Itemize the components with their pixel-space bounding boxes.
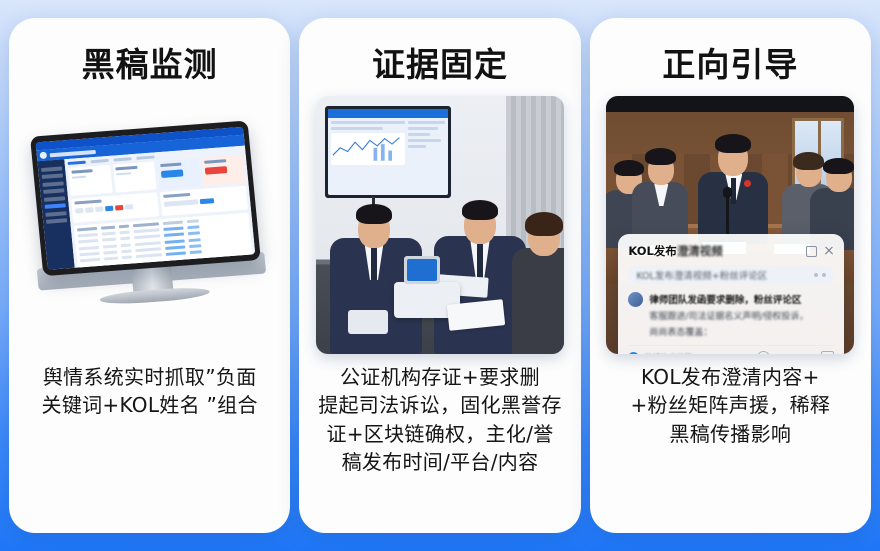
- dashboard-logo-icon: [39, 152, 47, 159]
- dashboard-brand-text: [49, 149, 95, 156]
- dashboard-table: [73, 213, 252, 270]
- wall-display-monitor: [325, 106, 451, 198]
- caption-line: 证+区块链确权，主化/誉: [318, 420, 562, 448]
- card-caption: KOL发布澄清内容+ +粉丝矩阵声援，稀释 黑稿传播影响: [618, 363, 842, 448]
- overlay-header: KOL发布澄清视频: [628, 243, 834, 259]
- sidebar-item: [42, 181, 63, 187]
- caption-line: 黑稿传播影响: [630, 420, 830, 448]
- display-right-col: [408, 121, 445, 165]
- kpi-card: [68, 165, 112, 196]
- kpi-card: [112, 162, 156, 193]
- caption-line: KOL发布澄清内容+: [630, 363, 830, 391]
- filter-panel: [71, 192, 159, 222]
- desktop-monitor-icon: [21, 112, 279, 339]
- card-caption: 舆情系统实时抓取”负面 关键词+KOL姓名 ”组合: [30, 363, 270, 420]
- chip-active: [104, 205, 112, 211]
- caption-line: 舆情系统实时抓取”负面: [42, 363, 258, 391]
- press-conference-image: KOL发布澄清视频 KOL发布澄清视频+粉丝评论区 律师团队发函要求删: [606, 96, 854, 354]
- overlay-title: KOL发布澄清视频: [628, 243, 723, 259]
- device-screen: [404, 256, 440, 284]
- person-left: [632, 148, 688, 238]
- person-right: [512, 212, 564, 354]
- close-icon[interactable]: [824, 246, 834, 256]
- monitor-bezel: [30, 120, 261, 276]
- verified-dot-icon: [628, 352, 639, 354]
- notary-meeting-image: [316, 96, 564, 354]
- secondary-device: [348, 310, 388, 334]
- display-appbar: [328, 109, 448, 118]
- post-line-2: 客服跟进/司法证据名义声明/侵权投诉，: [649, 309, 834, 322]
- display-line-chart: [331, 133, 405, 165]
- caption-line: 提起司法诉讼，固化黑誉存: [318, 391, 562, 419]
- chip-alert: [114, 205, 122, 211]
- cards-stage: 黑稿监测: [0, 0, 880, 551]
- caption-line: 关键词+KOL姓名 ”组合: [42, 391, 258, 419]
- display-left-col: [331, 121, 405, 165]
- caption-line: 公证机构存证+要求删: [318, 363, 562, 391]
- card-title: 证据固定: [372, 48, 508, 81]
- sidebar-item-active: [44, 203, 65, 209]
- monitor-illustration: [9, 89, 290, 361]
- card-title: 正向引导: [662, 48, 798, 81]
- search-button: [199, 198, 213, 204]
- caption-line: 稿发布时间/平台/内容: [318, 448, 562, 476]
- chip: [94, 206, 102, 212]
- kpi-card-alert: [201, 155, 245, 186]
- kpi-card-primary: [157, 158, 201, 189]
- source-label: 微博热点首页: [644, 352, 692, 354]
- search-panel: [160, 186, 248, 216]
- chip: [74, 208, 82, 214]
- social-post-overlay[interactable]: KOL发布澄清视频 KOL发布澄清视频+粉丝评论区 律师团队发函要求删: [618, 234, 844, 354]
- display-screen: [328, 109, 448, 195]
- tab: [113, 157, 131, 161]
- kpi-action-button: [160, 169, 183, 178]
- sidebar-item: [46, 218, 67, 224]
- source-group: 微博热点首页: [628, 352, 706, 354]
- sidebar-item: [43, 188, 64, 194]
- monitor-screen: [35, 127, 255, 270]
- search-query-text: KOL发布澄清视频+粉丝评论区: [636, 268, 767, 282]
- meeting-photo: [299, 89, 580, 361]
- post-line-1: 律师团队发函要求删除，粉丝评论区: [649, 292, 834, 306]
- card-title: 黑稿监测: [82, 48, 218, 81]
- sidebar-item: [45, 211, 66, 217]
- overlay-footer[interactable]: 微博热点首页: [628, 345, 834, 354]
- dashboard-body: [37, 146, 255, 270]
- caption-line: +粉丝矩阵声援，稀释: [630, 391, 830, 419]
- card-zhengxiang-yindao[interactable]: 正向引导: [590, 18, 871, 533]
- sidebar-item: [44, 196, 65, 202]
- post-line-3: 尚尚表态覆盖：: [649, 325, 834, 338]
- kpi-alert-button: [204, 166, 227, 175]
- post-text-block: 律师团队发函要求删除，粉丝评论区 客服跟进/司法证据名义声明/侵权投诉， 尚尚表…: [649, 292, 834, 338]
- tab: [90, 159, 108, 163]
- person-speaker: [698, 134, 768, 234]
- search-field: [163, 199, 197, 207]
- tab: [136, 155, 154, 159]
- filter-chips: [74, 202, 155, 213]
- dashboard-main: [64, 146, 255, 268]
- display-content: [328, 118, 448, 168]
- press-conference-photo: KOL发布澄清视频 KOL发布澄清视频+粉丝评论区 律师团队发函要求删: [590, 89, 871, 361]
- settings-dots-icon[interactable]: [814, 273, 826, 277]
- chart-svg: [331, 133, 405, 163]
- tab-active: [67, 161, 85, 165]
- overlay-search-bar[interactable]: KOL发布澄清视频+粉丝评论区: [628, 265, 834, 284]
- person-far-right: [810, 158, 854, 242]
- search-row: [163, 195, 244, 206]
- avatar: [628, 292, 643, 307]
- share-icon[interactable]: [821, 351, 834, 354]
- overlay-post: 律师团队发函要求删除，粉丝评论区 客服跟进/司法证据名义声明/侵权投诉， 尚尚表…: [628, 292, 834, 338]
- card-caption: 公证机构存证+要求删 提起司法诉讼，固化黑誉存 证+区块链确权，主化/誉 稿发布…: [306, 363, 574, 477]
- chip: [124, 204, 132, 210]
- comment-icon[interactable]: [757, 351, 770, 354]
- square-icon[interactable]: [806, 246, 817, 257]
- card-heigao-jiance[interactable]: 黑稿监测: [9, 18, 290, 533]
- sidebar-item: [41, 166, 62, 172]
- sidebar-item: [41, 173, 62, 179]
- overlay-actions[interactable]: [806, 246, 834, 257]
- microphone-icon: [726, 192, 729, 236]
- card-zhengju-guding[interactable]: 证据固定: [299, 18, 580, 533]
- ceiling-band: [606, 96, 854, 112]
- chip: [84, 207, 92, 213]
